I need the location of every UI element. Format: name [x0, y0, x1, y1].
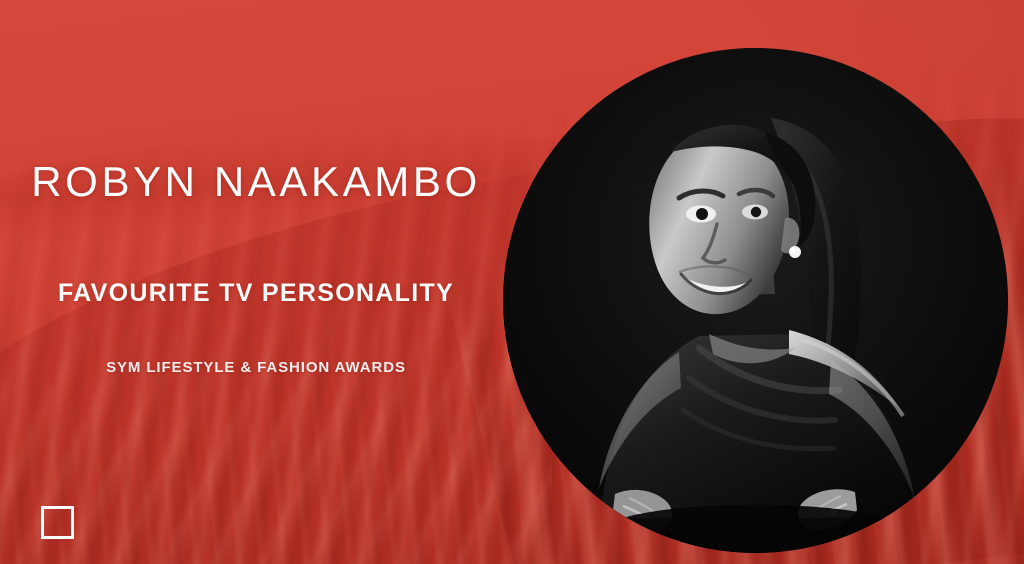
square-outline-logo-icon — [41, 506, 74, 539]
portrait-photo-circle — [503, 48, 1008, 553]
award-event-name: SYM LIFESTYLE & FASHION AWARDS — [0, 360, 512, 377]
award-category: FAVOURITE TV PERSONALITY — [0, 280, 512, 308]
award-announcement-slide: ROBYN NAAKAMBO FAVOURITE TV PERSONALITY … — [0, 0, 1024, 564]
page-title: ROBYN NAAKAMBO — [0, 160, 512, 204]
portrait-illustration — [503, 48, 1008, 553]
text-block: ROBYN NAAKAMBO FAVOURITE TV PERSONALITY … — [0, 160, 512, 376]
